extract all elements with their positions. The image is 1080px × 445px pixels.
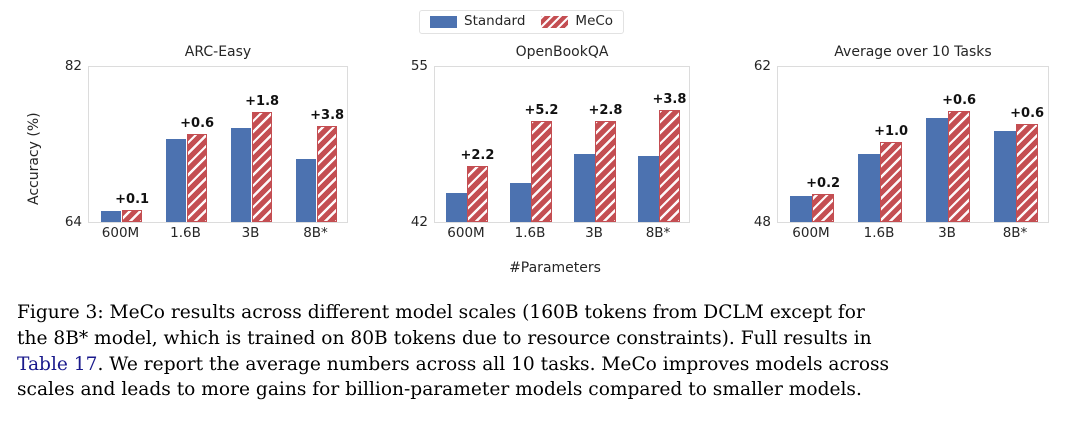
bar-container: +2.2+5.2+2.8+3.8 bbox=[435, 67, 689, 222]
bar-standard bbox=[101, 211, 121, 222]
bar-meco bbox=[880, 142, 901, 222]
bar-standard bbox=[994, 131, 1015, 222]
y-tick-min: 64 bbox=[65, 216, 82, 230]
bar-meco bbox=[812, 194, 833, 222]
bar-delta-label: +0.6 bbox=[1010, 107, 1044, 120]
bar-delta-label: +0.2 bbox=[806, 177, 840, 190]
legend-entry-meco: MeCo bbox=[541, 15, 613, 29]
x-tick-label: 600M bbox=[777, 227, 845, 241]
bar-delta-label: +2.8 bbox=[588, 104, 622, 117]
legend-swatch-solid bbox=[430, 16, 457, 28]
bar-standard bbox=[446, 193, 466, 222]
y-tick-min: 48 bbox=[754, 216, 771, 230]
bar-delta-label: +0.1 bbox=[115, 193, 149, 206]
bar-delta-label: +3.8 bbox=[652, 93, 686, 106]
bar-group: +3.8 bbox=[627, 67, 691, 222]
bar-meco bbox=[122, 210, 142, 222]
bar-meco bbox=[531, 121, 551, 222]
legend-swatch-hatched bbox=[541, 16, 568, 28]
x-tick-label: 3B bbox=[562, 227, 626, 241]
y-axis-label: Accuracy (%) bbox=[26, 112, 42, 205]
x-tick-label: 1.6B bbox=[153, 227, 218, 241]
x-tick-label: 1.6B bbox=[845, 227, 913, 241]
bar-standard bbox=[574, 154, 594, 222]
figure-caption: Figure 3: MeCo results across different … bbox=[17, 300, 1067, 403]
bar-group: +2.8 bbox=[563, 67, 627, 222]
plot-area: 55 42 +2.2+5.2+2.8+3.8 bbox=[434, 66, 690, 223]
bar-standard bbox=[510, 183, 530, 222]
y-tick-max: 62 bbox=[754, 60, 771, 74]
x-tick-label: 3B bbox=[913, 227, 981, 241]
bar-group: +0.1 bbox=[89, 67, 154, 222]
bar-delta-label: +1.8 bbox=[245, 95, 279, 108]
caption-line-3-rest: . We report the average numbers across a… bbox=[97, 354, 889, 375]
plot-area: 82 64 +0.1+0.6+1.8+3.8 bbox=[88, 66, 348, 223]
bar-standard bbox=[790, 196, 811, 222]
caption-line-2: the 8B* model, which is trained on 80B t… bbox=[17, 326, 1067, 352]
x-tick-label: 600M bbox=[434, 227, 498, 241]
plot-area: 62 48 +0.2+1.0+0.6+0.6 bbox=[777, 66, 1049, 223]
bar-delta-label: +0.6 bbox=[180, 117, 214, 130]
x-tick-label: 8B* bbox=[283, 227, 348, 241]
bar-standard bbox=[166, 139, 186, 222]
x-axis-label: #Parameters bbox=[430, 260, 680, 276]
legend-entry-standard: Standard bbox=[430, 15, 525, 29]
caption-line-1: Figure 3: MeCo results across different … bbox=[17, 300, 1067, 326]
bar-meco bbox=[187, 134, 207, 222]
y-tick-max: 82 bbox=[65, 60, 82, 74]
bar-standard bbox=[296, 159, 316, 222]
bar-meco bbox=[948, 111, 969, 222]
bar-delta-label: +1.0 bbox=[874, 125, 908, 138]
bar-group: +5.2 bbox=[499, 67, 563, 222]
legend-label-standard: Standard bbox=[464, 15, 525, 29]
bar-meco bbox=[1016, 124, 1037, 222]
bar-standard bbox=[926, 118, 947, 222]
legend-label-meco: MeCo bbox=[575, 15, 613, 29]
table-17-link[interactable]: Table 17 bbox=[17, 354, 97, 375]
bar-standard bbox=[638, 156, 658, 222]
subplot-average-over-10-tasks: Average over 10 Tasks 62 48 +0.2+1.0+0.6… bbox=[777, 44, 1049, 259]
bar-delta-label: +5.2 bbox=[524, 104, 558, 117]
bar-group: +1.0 bbox=[846, 67, 914, 222]
y-tick-min: 42 bbox=[411, 216, 428, 230]
bar-group: +0.6 bbox=[154, 67, 219, 222]
x-tick-label: 1.6B bbox=[498, 227, 562, 241]
bar-meco bbox=[467, 166, 487, 222]
bar-delta-label: +0.6 bbox=[942, 94, 976, 107]
chart-legend: Standard MeCo bbox=[419, 10, 624, 34]
bar-meco bbox=[252, 112, 272, 222]
bar-meco bbox=[595, 121, 615, 222]
subplot-openbookqa: OpenBookQA 55 42 +2.2+5.2+2.8+3.8 600M1.… bbox=[434, 44, 690, 259]
bar-group: +0.6 bbox=[914, 67, 982, 222]
bar-group: +3.8 bbox=[284, 67, 349, 222]
bar-container: +0.1+0.6+1.8+3.8 bbox=[89, 67, 347, 222]
x-tick-label: 8B* bbox=[626, 227, 690, 241]
bar-standard bbox=[231, 128, 251, 222]
bar-group: +0.6 bbox=[982, 67, 1050, 222]
x-tick-label: 3B bbox=[218, 227, 283, 241]
subplot-arc-easy: ARC-Easy 82 64 +0.1+0.6+1.8+3.8 600M1.6B… bbox=[88, 44, 348, 259]
bar-group: +1.8 bbox=[219, 67, 284, 222]
bar-meco bbox=[317, 126, 337, 222]
caption-line-4: scales and leads to more gains for billi… bbox=[17, 377, 1067, 403]
bar-delta-label: +3.8 bbox=[310, 109, 344, 122]
subplot-title: OpenBookQA bbox=[434, 44, 690, 60]
bar-group: +2.2 bbox=[435, 67, 499, 222]
bar-standard bbox=[858, 154, 879, 222]
figure-3-bar-charts: Standard MeCo Accuracy (%) #Parameters A… bbox=[0, 0, 1080, 290]
bar-delta-label: +2.2 bbox=[460, 149, 494, 162]
subplot-title: Average over 10 Tasks bbox=[777, 44, 1049, 60]
caption-line-3: Table 17. We report the average numbers … bbox=[17, 352, 1067, 378]
y-tick-max: 55 bbox=[411, 60, 428, 74]
bar-container: +0.2+1.0+0.6+0.6 bbox=[778, 67, 1048, 222]
x-tick-label: 8B* bbox=[981, 227, 1049, 241]
bar-meco bbox=[659, 110, 679, 222]
subplot-title: ARC-Easy bbox=[88, 44, 348, 60]
x-tick-label: 600M bbox=[88, 227, 153, 241]
bar-group: +0.2 bbox=[778, 67, 846, 222]
